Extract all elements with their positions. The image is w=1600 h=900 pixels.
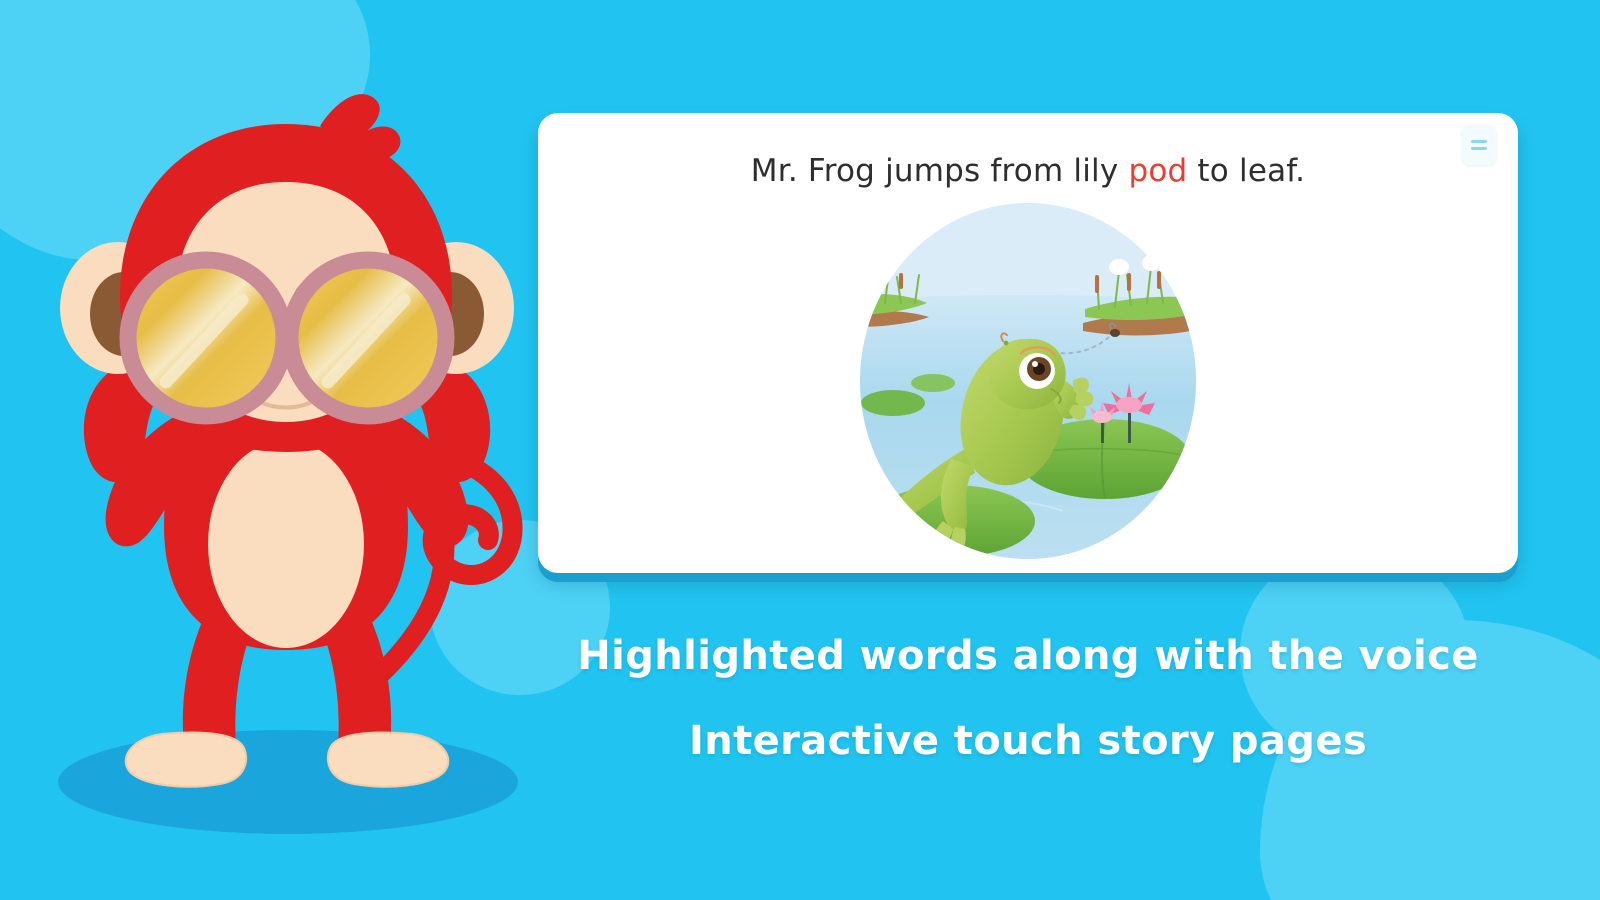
fly-icon [1110,329,1120,337]
menu-line-2 [1471,147,1487,150]
mascot-ground-shadow [58,730,518,834]
menu-line-1 [1471,140,1487,143]
small-lily-pad-1 [861,390,925,416]
frog-jumping-pond-illustration[interactable] [833,191,1223,561]
feature-caption-line-1: Highlighted words along with the voice [538,633,1518,679]
story-text-suffix: to leaf. [1187,153,1305,189]
story-text-prefix: Mr. Frog jumps from lily [751,153,1129,189]
story-page-card[interactable]: Mr. Frog jumps from lily pod to leaf. [538,113,1518,573]
app-screen: Mr. Frog jumps from lily pod to leaf. [0,0,1600,900]
small-lily-pad-2 [911,374,955,392]
story-sentence[interactable]: Mr. Frog jumps from lily pod to leaf. [538,153,1518,189]
mascot-monkey [20,70,580,860]
mascot-belly [208,440,364,648]
highlighted-word[interactable]: pod [1128,153,1187,189]
feature-caption-line-2: Interactive touch story pages [538,718,1518,764]
